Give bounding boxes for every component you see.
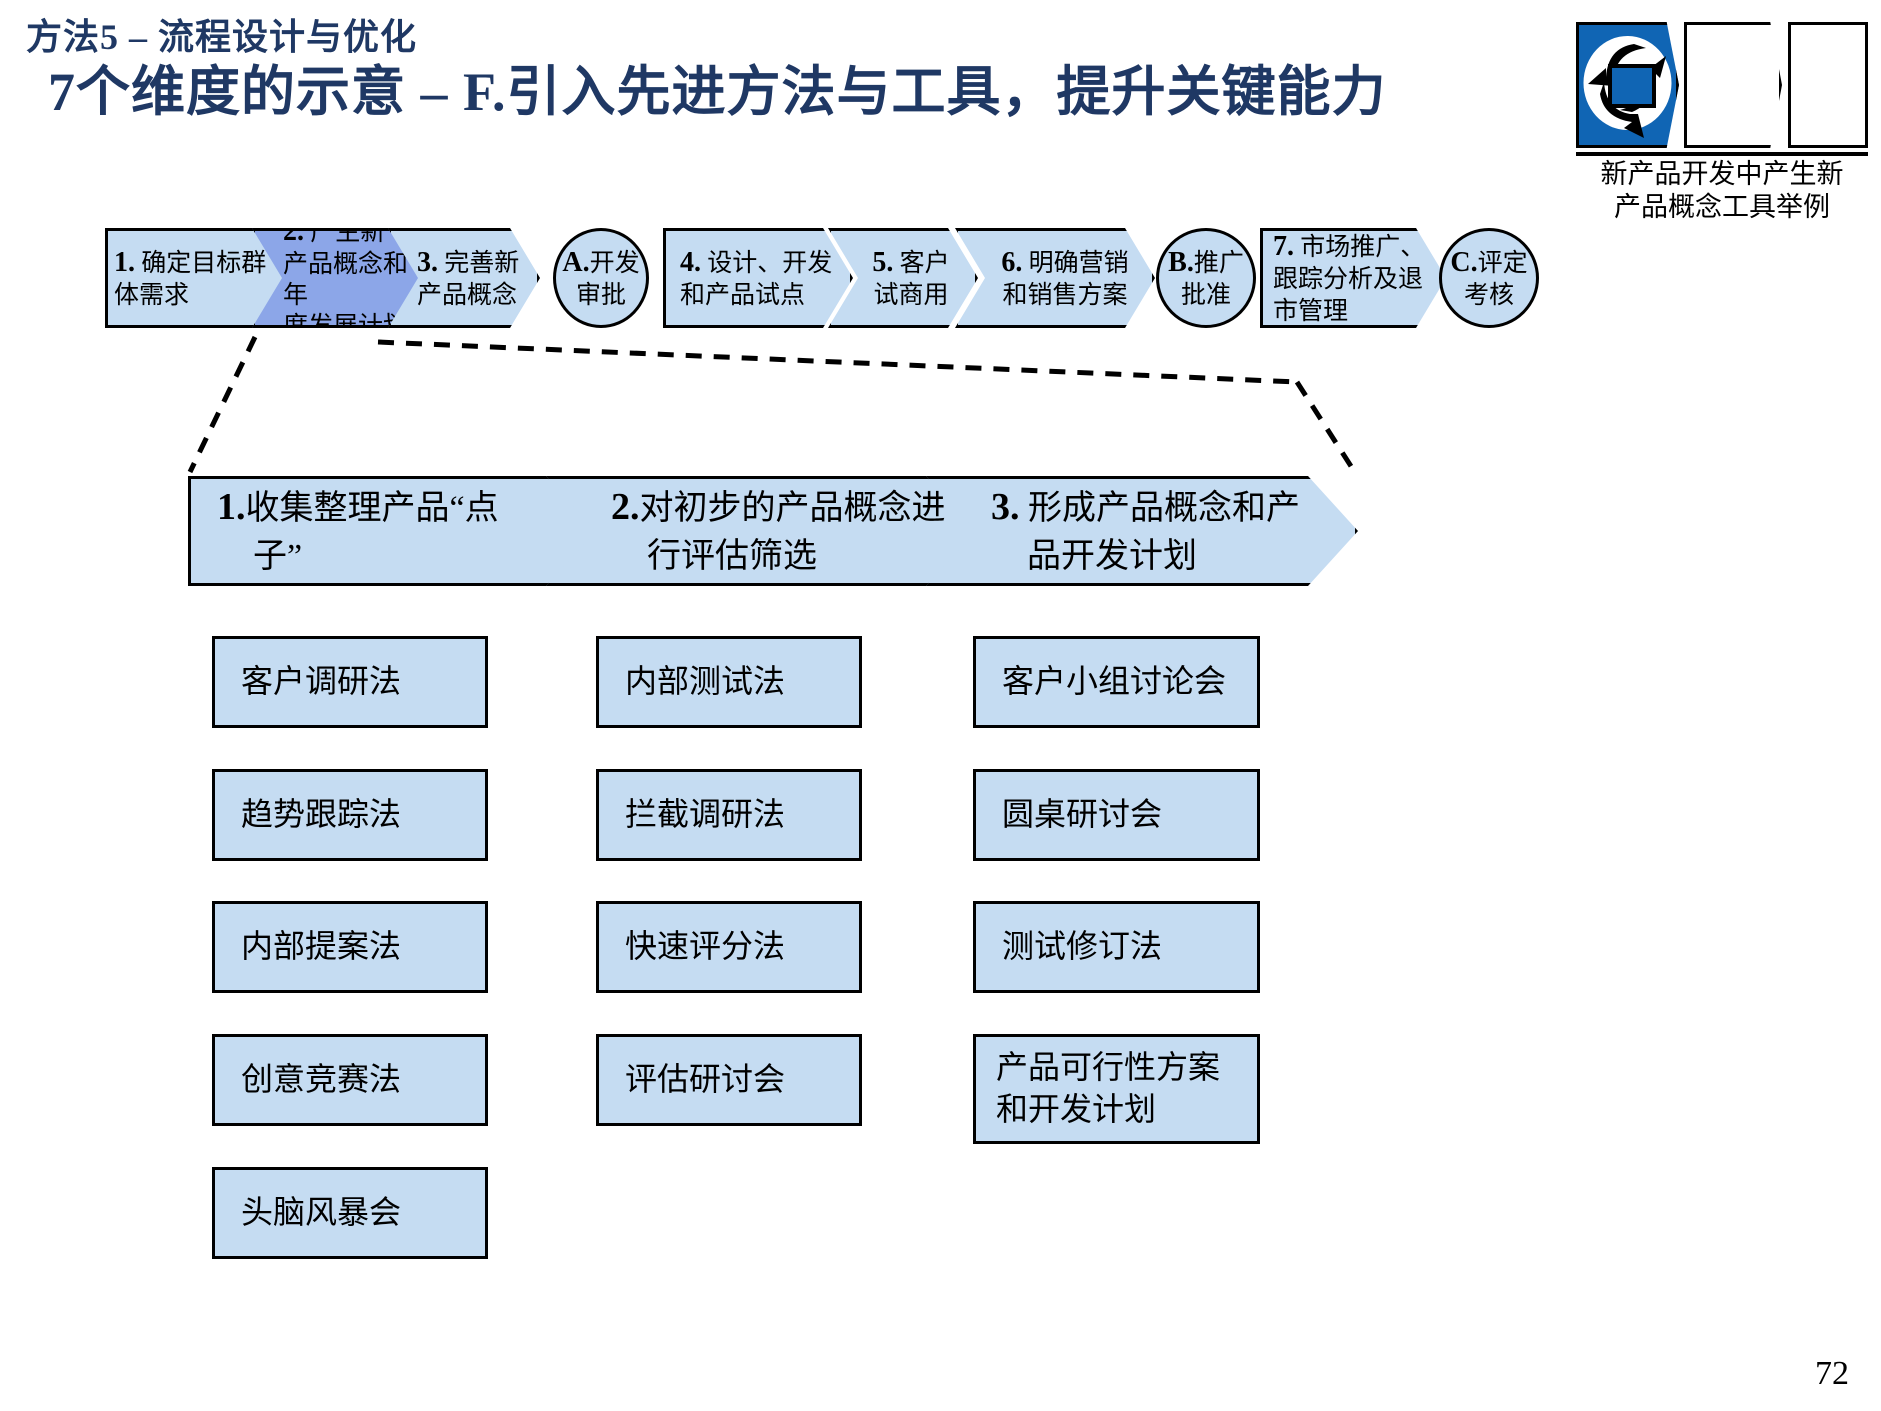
flow-gate-c[interactable]: C.评定 考核	[1439, 228, 1539, 328]
flow-gate-c-number: C.	[1450, 247, 1477, 278]
flow-step-2-line1: 产生新	[310, 219, 385, 246]
flow-step-1-line1: 确定目标群	[141, 250, 266, 277]
logo-tile-white-icon	[1684, 22, 1782, 148]
flow-step-6-line2: 和销售方案	[1002, 280, 1127, 311]
method-box-c3-r4[interactable]: 产品可行性方案 和开发计划	[973, 1034, 1260, 1144]
flow-gate-a-line2: 审批	[576, 280, 626, 311]
flow-step-6-text: 6. 明确营销 和销售方案	[958, 231, 1152, 325]
method-box-c3-r1[interactable]: 客户小组讨论会	[973, 636, 1260, 728]
method-box-c2-r4-line1: 评估研讨会	[625, 1059, 859, 1101]
detail-step-2-number: 2.	[611, 486, 640, 528]
flow-step-7-line1: 市场推广、	[1300, 234, 1425, 261]
flow-step-2-number: 2.	[283, 216, 304, 247]
flow-step-4-line2: 和产品试点	[680, 280, 844, 311]
flow-gate-b-line1: 推广	[1194, 250, 1244, 277]
detail-step-2-line2: 行评估筛选	[611, 534, 983, 580]
logo-block: 新产品开发中产生新 产品概念工具举例	[1576, 22, 1868, 224]
method-box-c1-r2-line1: 趋势跟踪法	[241, 794, 485, 836]
detail-step-1-line2: 子”	[217, 534, 603, 580]
flow-step-7-line2: 跟踪分析及退	[1273, 264, 1437, 295]
connector-right-line	[1297, 382, 1356, 474]
method-box-c2-r3[interactable]: 快速评分法	[596, 901, 862, 993]
detail-step-2[interactable]: 2.对初步的产品概念进 行评估筛选	[546, 476, 986, 586]
connector-top-line	[378, 342, 1297, 382]
detail-step-3-line1: 形成产品概念和产	[1028, 490, 1300, 527]
flow-step-6-number: 6.	[1001, 247, 1022, 278]
method-box-c3-r3[interactable]: 测试修订法	[973, 901, 1260, 993]
flow-step-5-line2: 试商用	[873, 280, 948, 311]
logo-caption-line2: 产品概念工具举例	[1576, 191, 1868, 224]
detail-step-1[interactable]: 1.收集整理产品“点 子”	[188, 476, 606, 586]
method-box-c3-r3-line1: 测试修订法	[1002, 926, 1257, 968]
page-number: 72	[1815, 1355, 1849, 1393]
method-box-c2-r4[interactable]: 评估研讨会	[596, 1034, 862, 1126]
flow-step-3-line1: 完善新	[444, 250, 519, 277]
flow-step-5-number: 5.	[872, 247, 893, 278]
page-title: 7个维度的示意 – F.引入先进方法与工具，提升关键能力	[48, 58, 1538, 127]
flow-step-4-number: 4.	[680, 247, 701, 278]
method-box-c1-r1-line1: 客户调研法	[241, 661, 485, 703]
method-box-c1-r5[interactable]: 头脑风暴会	[212, 1167, 488, 1259]
method-box-c1-r4[interactable]: 创意竞赛法	[212, 1034, 488, 1126]
flow-step-3-number: 3.	[417, 247, 438, 278]
method-box-c1-r3-line1: 内部提案法	[241, 926, 485, 968]
flow-step-4[interactable]: 4. 设计、开发 和产品试点	[663, 228, 853, 328]
flow-gate-b-line2: 批准	[1181, 280, 1231, 311]
flow-gate-c-line2: 考核	[1464, 280, 1514, 311]
flow-gate-a-number: A.	[562, 247, 589, 278]
method-box-c3-r2-line1: 圆桌研讨会	[1002, 794, 1257, 836]
flow-step-5-line1: 客户	[900, 250, 950, 277]
flow-step-6-line1: 明确营销	[1029, 250, 1129, 277]
flow-gate-a-text: A.开发 审批	[556, 231, 646, 325]
flow-gate-c-text: C.评定 考核	[1442, 231, 1536, 325]
detail-step-2-line1: 对初步的产品概念进	[640, 490, 946, 527]
method-box-c2-r3-line1: 快速评分法	[625, 926, 859, 968]
method-box-c1-r2[interactable]: 趋势跟踪法	[212, 769, 488, 861]
slide-eyebrow: 方法5 – 流程设计与优化	[26, 8, 417, 60]
flow-gate-a[interactable]: A.开发 审批	[553, 228, 649, 328]
method-box-c2-r2[interactable]: 拦截调研法	[596, 769, 862, 861]
detail-step-3-line2: 品开发计划	[991, 534, 1355, 580]
detail-step-3[interactable]: 3. 形成产品概念和产 品开发计划	[926, 476, 1358, 586]
method-box-c1-r4-line1: 创意竞赛法	[241, 1059, 485, 1101]
logo-swirl-icon	[1576, 22, 1679, 148]
logo-marks	[1576, 22, 1868, 150]
method-box-c2-r1-line1: 内部测试法	[625, 661, 859, 703]
flow-step-4-line1: 设计、开发	[707, 250, 832, 277]
detail-step-1-text: 1.收集整理产品“点 子”	[191, 479, 603, 583]
flow-step-3-line2: 产品概念	[417, 280, 531, 311]
detail-step-3-number: 3.	[991, 486, 1020, 528]
flow-step-7[interactable]: 7. 市场推广、 跟踪分析及退 市管理	[1260, 228, 1446, 328]
flow-step-1-line2: 体需求	[114, 280, 286, 311]
method-box-c1-r5-line1: 头脑风暴会	[241, 1192, 485, 1234]
method-box-c1-r3[interactable]: 内部提案法	[212, 901, 488, 993]
method-box-c3-r4-line1: 产品可行性方案	[996, 1047, 1257, 1089]
detail-step-2-text: 2.对初步的产品概念进 行评估筛选	[549, 479, 983, 583]
logo-caption-line1: 新产品开发中产生新	[1576, 158, 1868, 191]
method-box-c3-r2[interactable]: 圆桌研讨会	[973, 769, 1260, 861]
method-box-c2-r2-line1: 拦截调研法	[625, 794, 859, 836]
flow-step-7-number: 7.	[1273, 231, 1294, 262]
top-process-flow: 1. 确定目标群 体需求 2. 产生新 产品概念和年 度发展计划 3. 完善新 …	[0, 228, 1881, 343]
flow-gate-c-line1: 评定	[1478, 250, 1528, 277]
flow-step-7-text: 7. 市场推广、 跟踪分析及退 市管理	[1263, 231, 1443, 325]
flow-gate-b-number: B.	[1168, 247, 1194, 278]
flow-step-6[interactable]: 6. 明确营销 和销售方案	[955, 228, 1155, 328]
flow-step-4-text: 4. 设计、开发 和产品试点	[666, 231, 850, 325]
method-box-c2-r1[interactable]: 内部测试法	[596, 636, 862, 728]
connector-left-line	[190, 337, 255, 472]
logo-caption: 新产品开发中产生新 产品概念工具举例	[1576, 152, 1868, 224]
flow-gate-b[interactable]: B.推广 批准	[1156, 228, 1256, 328]
detail-step-1-number: 1.	[217, 486, 246, 528]
flow-step-1-number: 1.	[114, 247, 135, 278]
flow-gate-a-line1: 开发	[590, 250, 640, 277]
flow-gate-b-text: B.推广 批准	[1159, 231, 1253, 325]
detail-process-flow: 1.收集整理产品“点 子” 2.对初步的产品概念进 行评估筛选 3. 形成产品概…	[188, 476, 1358, 586]
logo-tile-square-icon	[1788, 22, 1868, 148]
method-box-c1-r1[interactable]: 客户调研法	[212, 636, 488, 728]
detail-step-3-text: 3. 形成产品概念和产 品开发计划	[929, 479, 1355, 583]
method-box-c3-r4-line2: 和开发计划	[996, 1089, 1257, 1131]
method-box-c3-r1-line1: 客户小组讨论会	[1002, 661, 1257, 703]
detail-step-1-line1: 收集整理产品“点	[246, 490, 499, 527]
flow-step-7-line3: 市管理	[1273, 296, 1437, 327]
flow-step-2-line2: 产品概念和年	[283, 249, 425, 312]
